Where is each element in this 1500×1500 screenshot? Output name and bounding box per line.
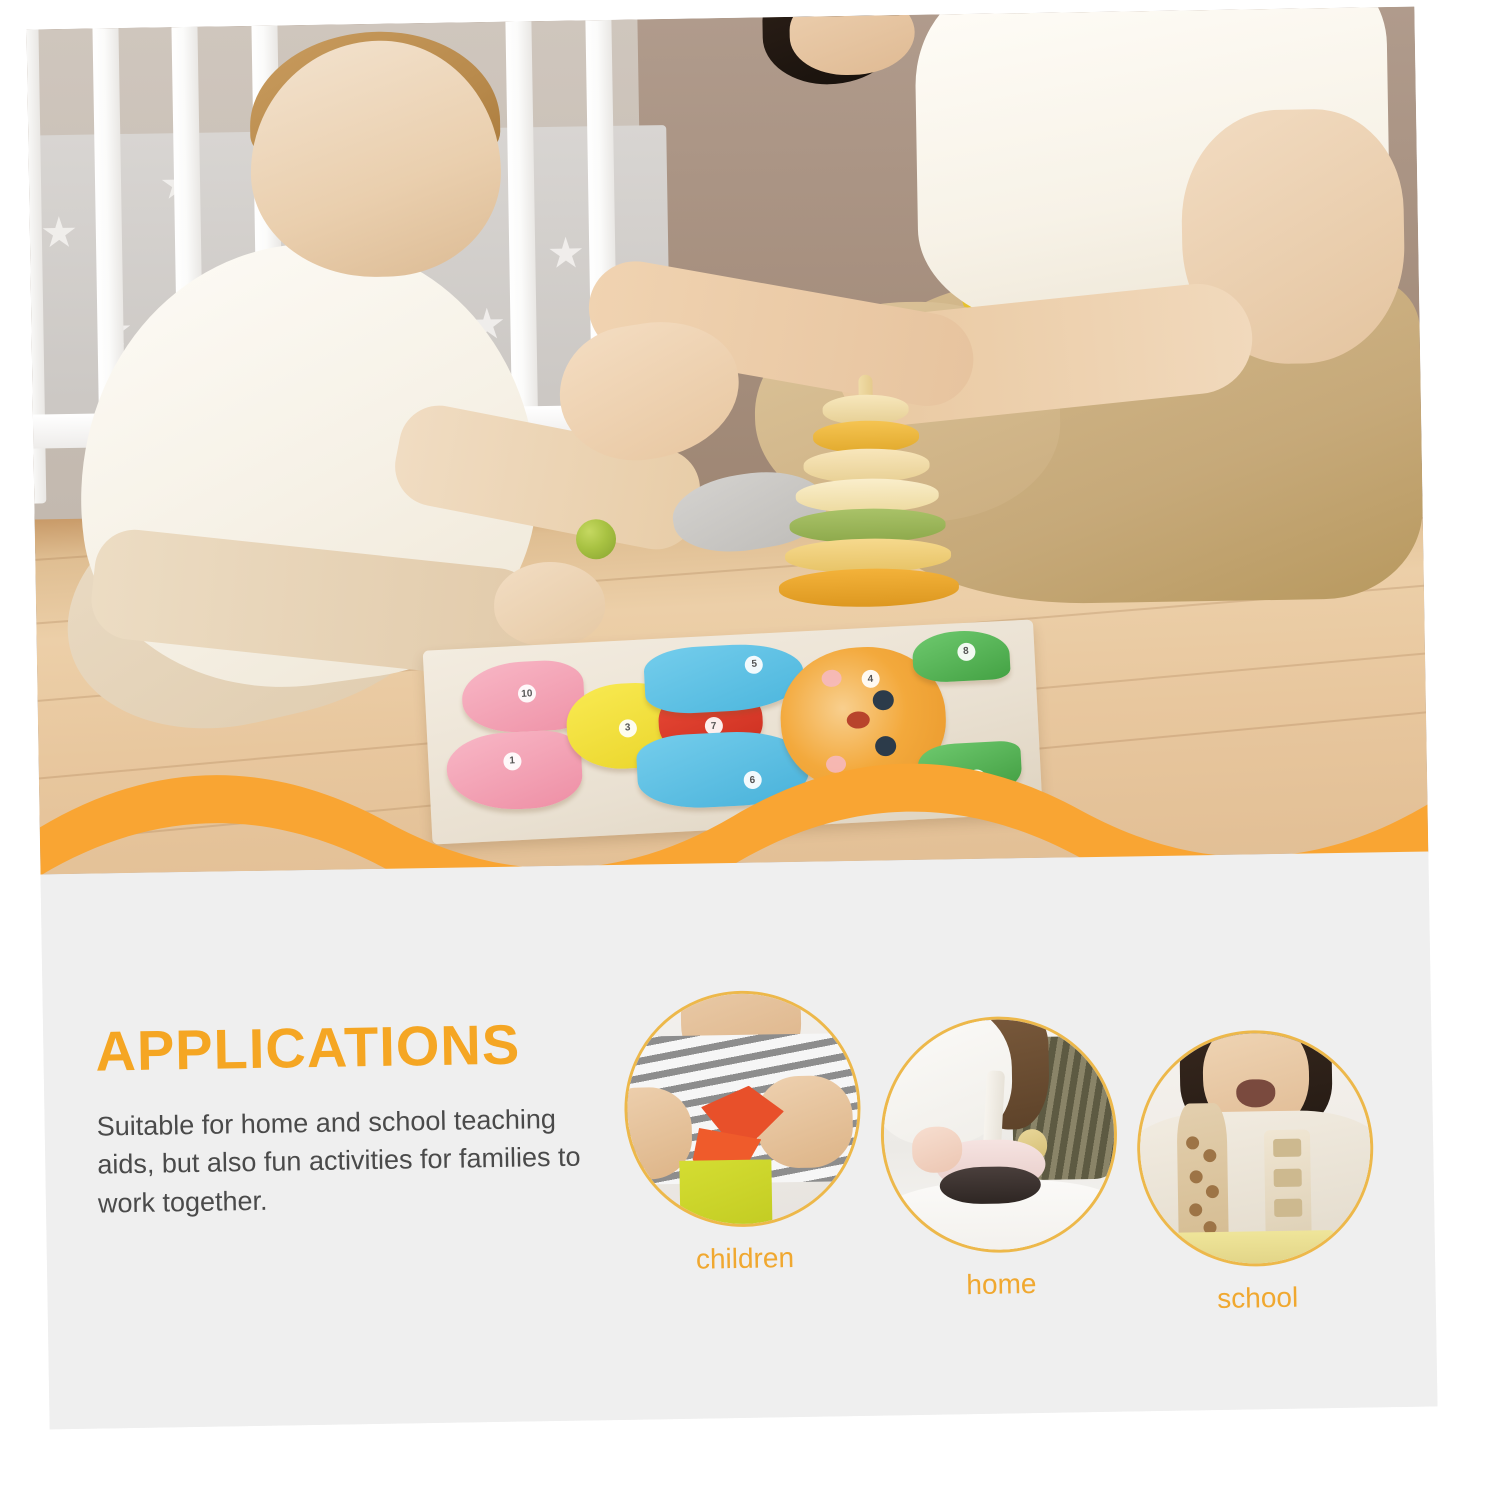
thumb-children-caption: children [627,1241,863,1277]
puzzle-piece-number: 1 [502,751,521,770]
puzzle-piece-wing-lower-left: 1 [445,728,583,813]
baby-foot [493,561,605,647]
puzzle-piece-number: 10 [517,684,536,703]
stacker-ring [778,568,958,609]
thumb-home-caption: home [883,1267,1119,1303]
puzzle-piece-antenna-bottom: 2 [916,741,1022,801]
puzzle-piece-number: 4 [861,670,880,689]
wooden-ring-stacker [782,378,952,617]
puzzle-board: 10 1 3 7 5 6 4 [422,619,1042,845]
thumb-school-caption: school [1139,1280,1375,1316]
applications-text-block: APPLICATIONS Suitable for home and schoo… [95,1015,618,1223]
application-thumbnails: children h [623,980,1389,1333]
puzzle-piece-number: 3 [618,718,637,737]
puzzle-piece-number: 6 [743,770,762,789]
puzzle-piece-number: 8 [956,642,975,661]
applications-title: APPLICATIONS [95,1015,616,1080]
hero-photo: 10 1 3 7 5 6 4 [26,7,1428,875]
thumb-home-image [879,1015,1119,1255]
thumb-school-image [1135,1028,1375,1268]
screenshot-stage: 10 1 3 7 5 6 4 [0,0,1500,1500]
puzzle-piece-number: 2 [967,768,986,787]
green-wooden-ball [576,518,617,559]
applications-section: APPLICATIONS Suitable for home and schoo… [40,851,1437,1429]
product-infographic-card: 10 1 3 7 5 6 4 [26,7,1437,1430]
puzzle-piece-number: 5 [744,655,763,674]
thumb-school: school [1135,1028,1375,1268]
thumb-home: home [879,1015,1119,1255]
applications-description: Suitable for home and school teaching ai… [96,1099,618,1223]
puzzle-piece-wing-upper-right: 5 [642,641,804,715]
thumb-children-image [623,989,863,1229]
thumb-children: children [623,989,863,1229]
puzzle-piece-antenna-top: 8 [911,628,1011,683]
